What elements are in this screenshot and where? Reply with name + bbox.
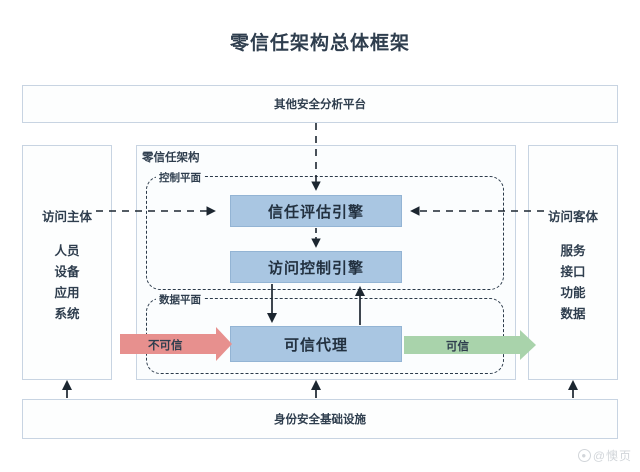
zero-trust-architecture-label: 零信任架构 (142, 149, 200, 165)
access-subject-heading: 访问主体 (23, 206, 111, 225)
list-item: 功能 (529, 283, 617, 304)
identity-security-infrastructure-box: 身份安全基础设施 (22, 399, 618, 439)
identity-security-infrastructure-label: 身份安全基础设施 (274, 411, 366, 427)
watermark: ● @懊页 (578, 447, 632, 464)
access-object-list: 服务 接口 功能 数据 (529, 241, 617, 325)
trusted-flow-label: 可信 (446, 338, 469, 354)
list-item: 数据 (529, 304, 617, 325)
control-plane-label: 控制平面 (156, 170, 204, 185)
watermark-text: @懊页 (593, 447, 632, 464)
untrusted-flow-arrow: 不可信 (120, 327, 232, 361)
trusted-agent-box[interactable]: 可信代理 (230, 326, 402, 362)
access-subject-box: 访问主体 人员 设备 应用 系统 (22, 145, 112, 380)
list-item: 人员 (23, 241, 111, 262)
untrusted-flow-label: 不可信 (148, 337, 183, 353)
list-item: 设备 (23, 262, 111, 283)
list-item: 应用 (23, 283, 111, 304)
access-control-engine-box[interactable]: 访问控制引擎 (230, 251, 402, 283)
other-security-analysis-platform-label: 其他安全分析平台 (274, 96, 366, 112)
list-item: 接口 (529, 262, 617, 283)
list-item: 服务 (529, 241, 617, 262)
page-title: 零信任架构总体框架 (0, 28, 640, 55)
list-item: 系统 (23, 304, 111, 325)
other-security-analysis-platform-box: 其他安全分析平台 (22, 85, 618, 123)
watermark-badge-icon: ● (578, 449, 591, 462)
data-plane-label: 数据平面 (156, 292, 204, 307)
trusted-flow-arrow: 可信 (404, 330, 536, 360)
access-subject-list: 人员 设备 应用 系统 (23, 241, 111, 325)
trust-evaluation-engine-box[interactable]: 信任评估引擎 (230, 195, 402, 227)
diagram-canvas: 零信任架构总体框架 其他安全分析平台 访问主体 人员 设备 应用 系统 访问客体… (0, 0, 640, 472)
access-object-box: 访问客体 服务 接口 功能 数据 (528, 145, 618, 380)
access-object-heading: 访问客体 (529, 206, 617, 225)
